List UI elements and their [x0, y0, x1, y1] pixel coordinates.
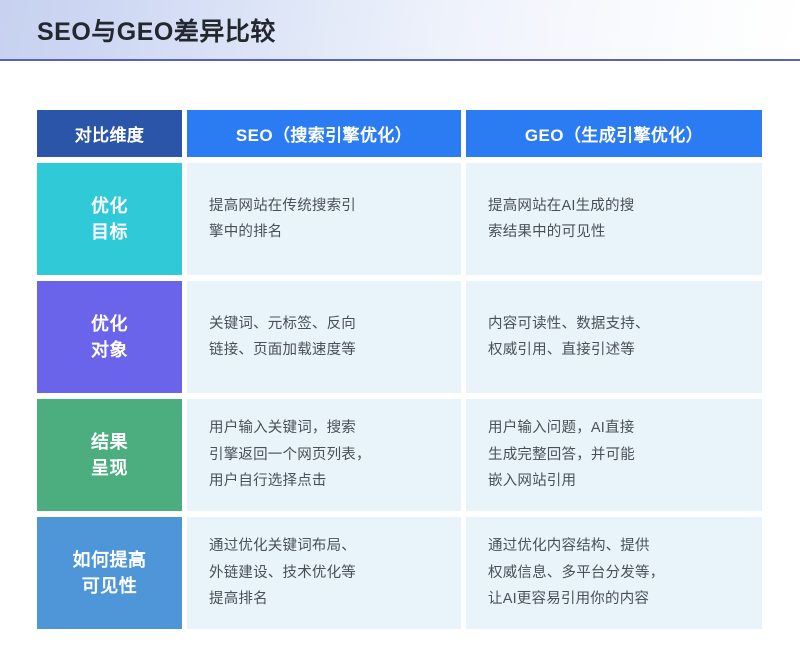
cell-text: 提高网站在传统搜索引 擎中的排名 — [209, 193, 356, 246]
cell-geo-how-to-improve-visibility: 通过优化内容结构、提供 权威信息、多平台分发等， 让AI更容易引用你的内容 — [466, 517, 762, 629]
cell-text: 通过优化关键词布局、 外链建设、技术优化等 提高排名 — [209, 533, 356, 612]
table-row: 结果 呈现 用户输入关键词，搜索 引擎返回一个网页列表， 用户自行选择点击 用户… — [37, 399, 757, 511]
header-cell-geo: GEO（生成引擎优化） — [466, 110, 762, 157]
header-cell-seo: SEO（搜索引擎优化） — [187, 110, 461, 157]
comparison-table: 对比维度 SEO（搜索引擎优化） GEO（生成引擎优化） 优化 目标 提高网站在… — [37, 110, 757, 629]
page-title: SEO与GEO差异比较 — [37, 12, 276, 48]
row-label-line-2: 呈现 — [91, 455, 128, 481]
cell-text: 用户输入关键词，搜索 引擎返回一个网页列表， 用户自行选择点击 — [209, 415, 371, 494]
cell-text: 关键词、元标签、反向 链接、页面加载速度等 — [209, 311, 356, 364]
cell-text: 用户输入问题，AI直接 生成完整回答，并可能 嵌入网站引用 — [488, 415, 635, 494]
row-label-optimization-goal: 优化 目标 — [37, 163, 182, 275]
cell-seo-optimization-goal: 提高网站在传统搜索引 擎中的排名 — [187, 163, 461, 275]
row-label-line-2: 可见性 — [82, 573, 138, 599]
cell-seo-optimization-target: 关键词、元标签、反向 链接、页面加载速度等 — [187, 281, 461, 393]
row-label-line-1: 如何提高 — [73, 547, 147, 573]
cell-geo-optimization-goal: 提高网站在AI生成的搜 索结果中的可见性 — [466, 163, 762, 275]
cell-geo-optimization-target: 内容可读性、数据支持、 权威引用、直接引述等 — [466, 281, 762, 393]
row-label-line-1: 结果 — [91, 429, 128, 455]
cell-text: 内容可读性、数据支持、 权威引用、直接引述等 — [488, 311, 650, 364]
row-label-result-presentation: 结果 呈现 — [37, 399, 182, 511]
cell-seo-result-presentation: 用户输入关键词，搜索 引擎返回一个网页列表， 用户自行选择点击 — [187, 399, 461, 511]
table-row: 如何提高 可见性 通过优化关键词布局、 外链建设、技术优化等 提高排名 通过优化… — [37, 517, 757, 629]
row-label-line-2: 对象 — [91, 337, 128, 363]
cell-text: 通过优化内容结构、提供 权威信息、多平台分发等， 让AI更容易引用你的内容 — [488, 533, 664, 612]
table-row: 优化 目标 提高网站在传统搜索引 擎中的排名 提高网站在AI生成的搜 索结果中的… — [37, 163, 757, 275]
page-banner: SEO与GEO差异比较 — [0, 0, 800, 61]
row-label-how-to-improve-visibility: 如何提高 可见性 — [37, 517, 182, 629]
cell-seo-how-to-improve-visibility: 通过优化关键词布局、 外链建设、技术优化等 提高排名 — [187, 517, 461, 629]
table-container: 对比维度 SEO（搜索引擎优化） GEO（生成引擎优化） 优化 目标 提高网站在… — [0, 61, 800, 665]
row-label-line-1: 优化 — [91, 311, 128, 337]
cell-geo-result-presentation: 用户输入问题，AI直接 生成完整回答，并可能 嵌入网站引用 — [466, 399, 762, 511]
cell-text: 提高网站在AI生成的搜 索结果中的可见性 — [488, 193, 634, 246]
row-label-line-2: 目标 — [91, 219, 128, 245]
row-label-line-1: 优化 — [91, 193, 128, 219]
row-label-optimization-target: 优化 对象 — [37, 281, 182, 393]
table-row: 优化 对象 关键词、元标签、反向 链接、页面加载速度等 内容可读性、数据支持、 … — [37, 281, 757, 393]
table-header-row: 对比维度 SEO（搜索引擎优化） GEO（生成引擎优化） — [37, 110, 757, 157]
header-cell-dimension: 对比维度 — [37, 110, 182, 157]
